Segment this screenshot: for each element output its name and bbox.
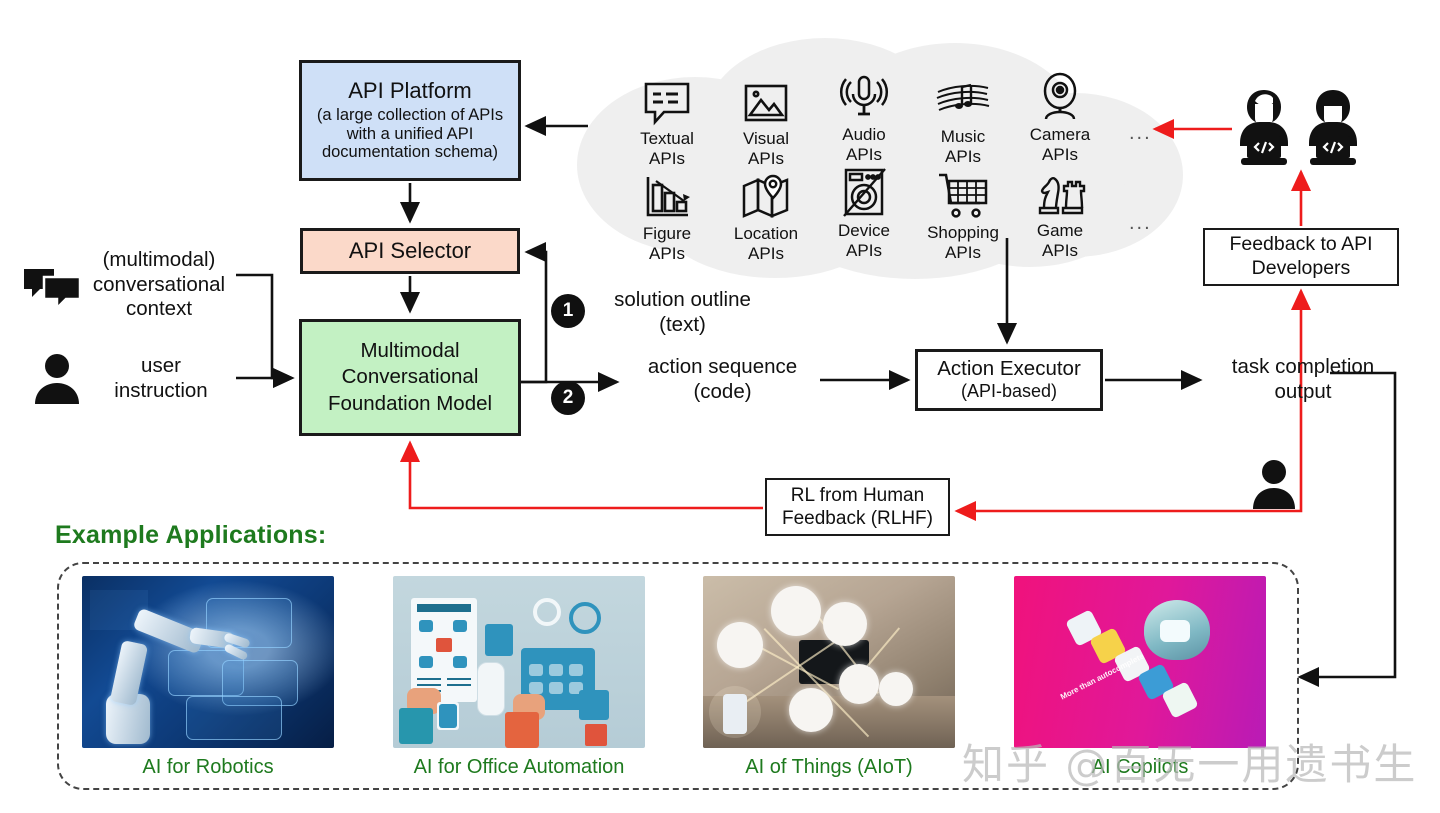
rlhf-box[interactable]: RL from Human Feedback (RLHF) bbox=[765, 478, 950, 536]
api-name-line2: APIs bbox=[649, 149, 685, 168]
api-platform-box[interactable]: API Platform (a large collection of APIs… bbox=[299, 60, 521, 181]
shopping-api-icon bbox=[915, 166, 1011, 220]
robotics-thumbnail bbox=[82, 576, 334, 748]
device-api-icon bbox=[816, 164, 912, 218]
action-executor-subtitle: (API-based) bbox=[961, 381, 1057, 401]
music-api-icon bbox=[915, 70, 1011, 124]
task-line-1: task completion bbox=[1232, 355, 1374, 378]
api-developer-male-icon bbox=[1302, 88, 1364, 173]
rlhf-line-1: RL from Human bbox=[791, 484, 924, 507]
solution-outline-label: solution outline (text) bbox=[585, 288, 780, 337]
action-sequence-label: action sequence (code) bbox=[625, 355, 820, 404]
api-name-line2: APIs bbox=[649, 244, 685, 263]
game-api-icon bbox=[1012, 164, 1108, 218]
audio-api-icon bbox=[816, 68, 912, 122]
example-applications-title: Example Applications: bbox=[55, 521, 326, 550]
api-card-figure[interactable]: FigureAPIs bbox=[619, 167, 715, 263]
api-platform-subtitle-2: with a unified API bbox=[347, 125, 474, 143]
example-app-aiot[interactable]: AI of Things (AIoT) bbox=[703, 576, 955, 779]
example-app-caption: AI for Office Automation bbox=[393, 756, 645, 779]
example-app-caption: AI for Robotics bbox=[82, 756, 334, 779]
api-name-line1: Location bbox=[734, 224, 798, 243]
task-line-2: output bbox=[1275, 380, 1332, 403]
api-name-line1: Game bbox=[1037, 221, 1083, 240]
api-name-line1: Textual bbox=[640, 129, 694, 148]
action-executor-title: Action Executor bbox=[937, 358, 1081, 381]
camera-api-icon bbox=[1012, 68, 1108, 122]
rlhf-line-2: Feedback (RLHF) bbox=[782, 507, 933, 530]
user-instruction-label: user instruction bbox=[86, 354, 236, 403]
api-card-game[interactable]: GameAPIs bbox=[1012, 164, 1108, 260]
mm-line-2: conversational bbox=[93, 273, 225, 296]
act-line-1: action sequence bbox=[648, 355, 797, 378]
watermark-text: 知乎 @百无一用遗书生 bbox=[962, 731, 1417, 792]
multimodal-context-label: (multimodal) conversational context bbox=[64, 248, 254, 322]
api-name-line1: Audio bbox=[842, 125, 885, 144]
api-name-line2: APIs bbox=[945, 147, 981, 166]
cloud-ellipsis-top: ... bbox=[1129, 122, 1152, 145]
api-name-line2: APIs bbox=[846, 145, 882, 164]
aiot-thumbnail bbox=[703, 576, 955, 748]
api-name-line1: Visual bbox=[743, 129, 789, 148]
api-name-line2: APIs bbox=[748, 244, 784, 263]
step-badge-2: 2 bbox=[551, 381, 585, 415]
visual-api-icon bbox=[718, 72, 814, 126]
task-completion-output-label: task completion output bbox=[1205, 355, 1401, 404]
api-card-audio[interactable]: AudioAPIs bbox=[816, 68, 912, 164]
api-name-line1: Camera bbox=[1030, 125, 1090, 144]
sol-line-2: (text) bbox=[659, 313, 706, 336]
mm-line-1: (multimodal) bbox=[103, 248, 216, 271]
figure-api-icon bbox=[619, 167, 715, 221]
example-app-caption: AI of Things (AIoT) bbox=[703, 756, 955, 779]
api-card-textual[interactable]: TextualAPIs bbox=[619, 72, 715, 168]
feedback-to-api-developers-box[interactable]: Feedback to API Developers bbox=[1203, 228, 1399, 286]
office-automation-thumbnail bbox=[393, 576, 645, 748]
api-name-line2: APIs bbox=[1042, 145, 1078, 164]
api-name-line1: Shopping bbox=[927, 223, 999, 242]
copilots-thumbnail: More than autocomplete bbox=[1014, 576, 1266, 748]
api-card-visual[interactable]: VisualAPIs bbox=[718, 72, 814, 168]
api-name-line2: APIs bbox=[945, 243, 981, 262]
step-badge-1: 1 bbox=[551, 294, 585, 328]
api-developer-female-icon bbox=[1233, 88, 1295, 173]
api-card-location[interactable]: LocationAPIs bbox=[718, 167, 814, 263]
example-app-robotics[interactable]: AI for Robotics bbox=[82, 576, 334, 779]
user-person-icon bbox=[32, 352, 82, 409]
foundation-model-line-2: Conversational bbox=[342, 364, 479, 390]
api-card-device[interactable]: DeviceAPIs bbox=[816, 164, 912, 260]
api-name-line2: APIs bbox=[846, 241, 882, 260]
foundation-model-box[interactable]: Multimodal Conversational Foundation Mod… bbox=[299, 319, 521, 436]
foundation-model-line-1: Multimodal bbox=[360, 338, 459, 364]
action-executor-box[interactable]: Action Executor (API-based) bbox=[915, 349, 1103, 411]
mm-line-3: context bbox=[126, 297, 192, 320]
cloud-ellipsis-bottom: ... bbox=[1129, 212, 1152, 235]
api-name-line1: Figure bbox=[643, 224, 691, 243]
api-platform-subtitle-1: (a large collection of APIs bbox=[317, 106, 503, 124]
ui-line-1: user bbox=[141, 354, 181, 377]
api-selector-title: API Selector bbox=[349, 239, 471, 264]
api-card-shopping[interactable]: ShoppingAPIs bbox=[915, 166, 1011, 262]
api-card-camera[interactable]: CameraAPIs bbox=[1012, 68, 1108, 164]
end-user-person-icon bbox=[1250, 459, 1298, 514]
diagram-canvas: TextualAPIs VisualAPIs AudioAPIs bbox=[0, 0, 1440, 813]
api-platform-subtitle-3: documentation schema) bbox=[322, 143, 498, 161]
api-name-line1: Device bbox=[838, 221, 890, 240]
feedback-line-2: Developers bbox=[1252, 257, 1351, 281]
foundation-model-line-3: Foundation Model bbox=[328, 391, 492, 417]
sol-line-1: solution outline bbox=[614, 288, 751, 311]
api-card-music[interactable]: MusicAPIs bbox=[915, 70, 1011, 166]
location-api-icon bbox=[718, 167, 814, 221]
ui-line-2: instruction bbox=[114, 379, 207, 402]
api-selector-box[interactable]: API Selector bbox=[300, 228, 520, 274]
api-name-line2: APIs bbox=[748, 149, 784, 168]
chat-bubbles-icon bbox=[22, 265, 84, 314]
feedback-line-1: Feedback to API bbox=[1229, 233, 1372, 257]
api-name-line2: APIs bbox=[1042, 241, 1078, 260]
api-platform-title: API Platform bbox=[348, 79, 471, 104]
textual-api-icon bbox=[619, 72, 715, 126]
act-line-2: (code) bbox=[693, 380, 751, 403]
example-app-office-automation[interactable]: AI for Office Automation bbox=[393, 576, 645, 779]
api-name-line1: Music bbox=[941, 127, 985, 146]
